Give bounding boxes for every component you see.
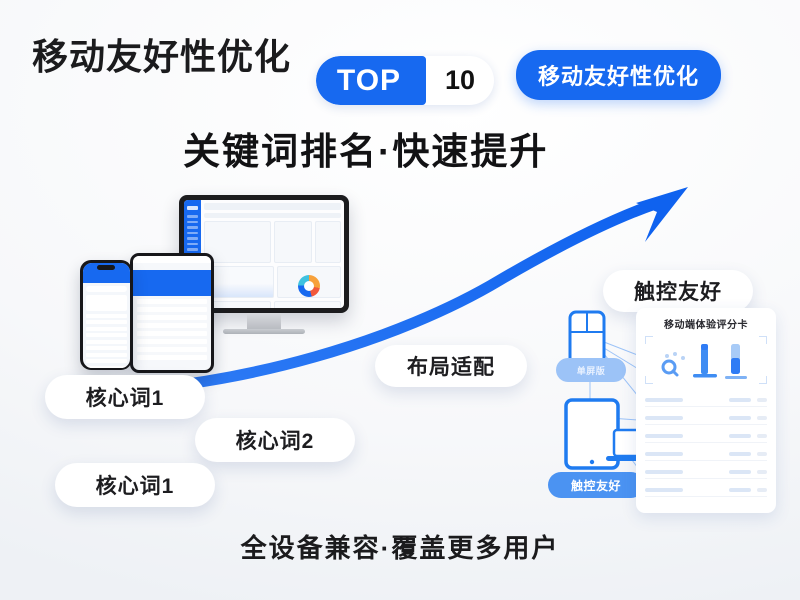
bar-chart-icon	[645, 336, 767, 384]
header-tag-pill: 移动友好性优化	[516, 50, 721, 100]
score-card-chart	[645, 336, 767, 384]
table-row	[645, 443, 767, 461]
top-badge-number: 10	[426, 56, 494, 105]
illustration-pill-touch: 触控友好	[548, 472, 644, 498]
tablet-mockup	[130, 253, 214, 373]
score-card-title: 移动端体验评分卡	[645, 316, 767, 331]
score-card: 移动端体验评分卡	[636, 308, 776, 513]
illustration-pill-split-screen: 单屏版	[556, 358, 626, 382]
poster-canvas: 移动友好性优化 TOP 10 移动友好性优化 关键词排名·快速提升	[0, 0, 800, 600]
score-card-table	[645, 389, 767, 497]
table-row	[645, 407, 767, 425]
donut-chart-icon	[298, 275, 320, 297]
table-row	[645, 389, 767, 407]
top-rank-badge: TOP 10	[316, 56, 494, 105]
smartphone-mockup	[80, 260, 132, 370]
mobile-experience-illustration: 单屏版 触控友好 移动端体验评分卡	[548, 300, 778, 520]
feature-pill-layout: 布局适配	[375, 345, 527, 387]
top-badge-label: TOP	[316, 56, 426, 105]
keyword-pill-1: 核心词1	[45, 375, 205, 419]
table-row	[645, 425, 767, 443]
page-title: 移动友好性优化	[32, 28, 291, 80]
table-row	[645, 461, 767, 479]
footer-text: 全设备兼容·覆盖更多用户	[0, 528, 800, 565]
device-mockups	[22, 190, 342, 390]
keyword-pill-2: 核心词2	[195, 418, 355, 462]
table-row	[645, 479, 767, 497]
keyword-pill-3: 核心词1	[55, 463, 215, 507]
